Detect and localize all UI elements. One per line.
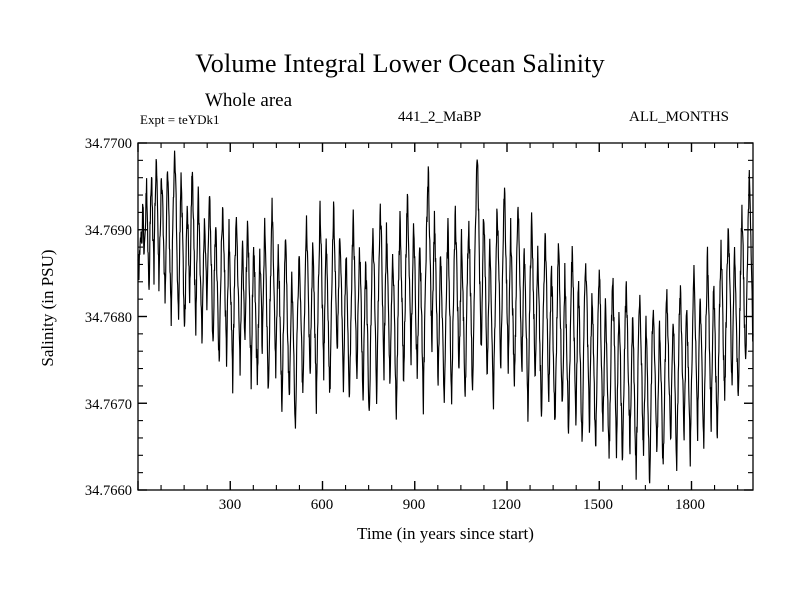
figure-canvas: Volume Integral Lower Ocean Salinity Who… bbox=[0, 0, 800, 600]
plot-area bbox=[0, 0, 800, 600]
salinity-data-line bbox=[138, 151, 753, 484]
